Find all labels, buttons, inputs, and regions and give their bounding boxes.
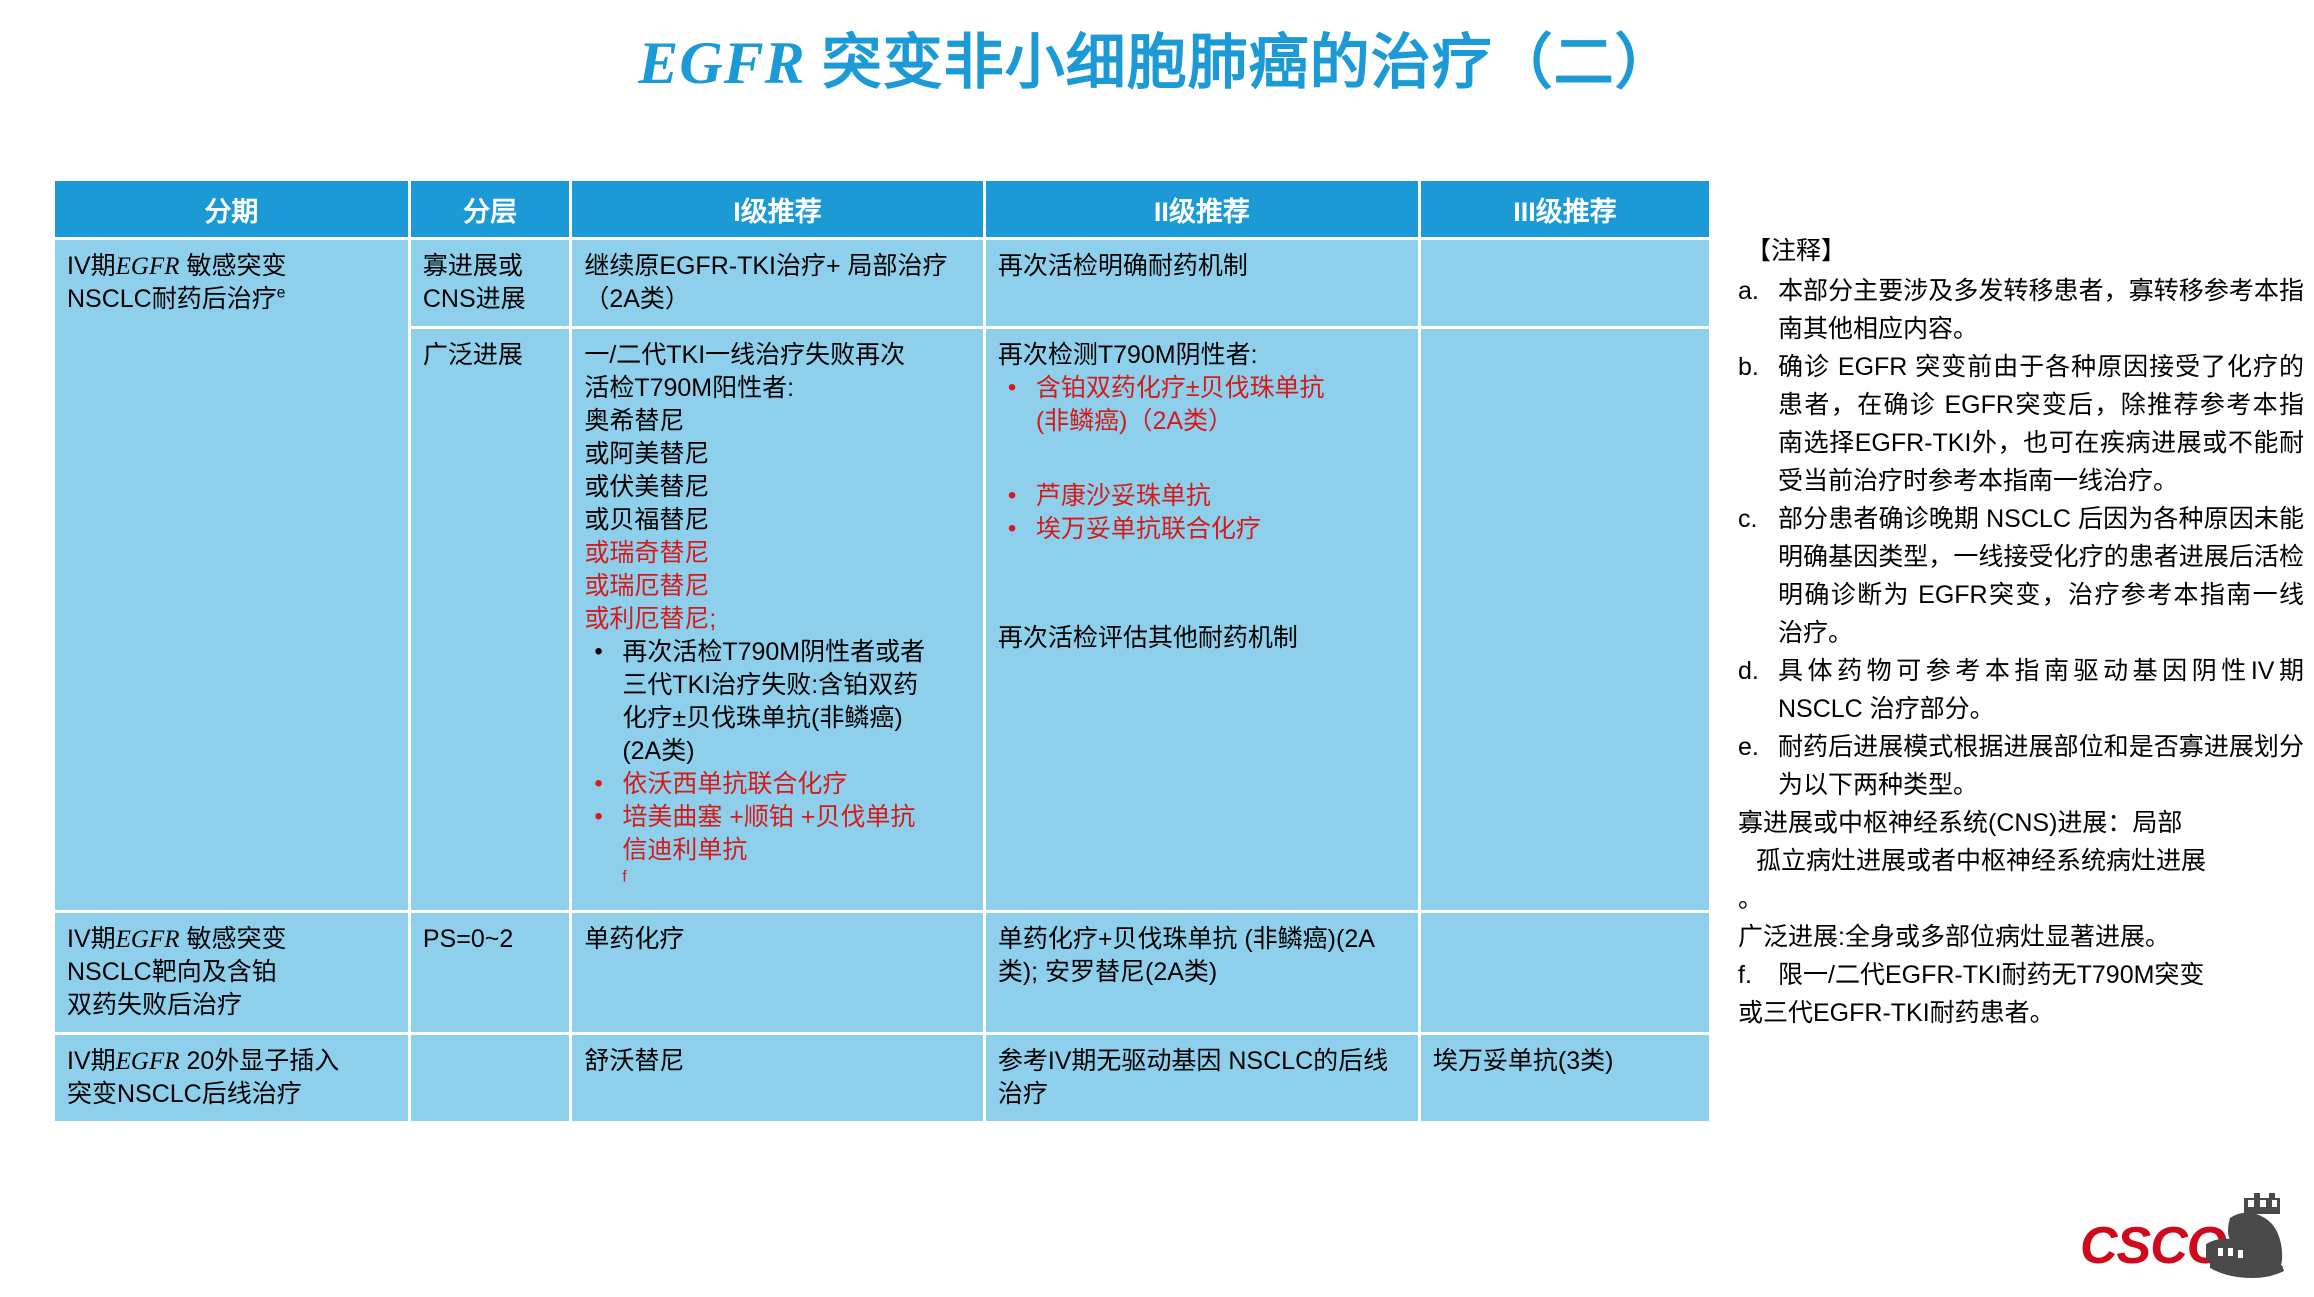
- level1-bullet-3: 培美曲塞 +顺铂 +贝伐单抗 信迪利单抗: [622, 801, 971, 867]
- stage1-gene: EGFR: [116, 253, 180, 280]
- cell-stage-4: IV期EGFR 20外显子插入 突变NSCLC后线治疗: [55, 1035, 408, 1121]
- stage4-gene: EGFR: [116, 1048, 180, 1075]
- note-text: 本部分主要涉及多发转移患者，寡转移参考本指南其他相应内容。: [1778, 272, 2304, 348]
- cell-level2-1: 再次活检明确耐药机制: [986, 240, 1418, 326]
- list-item: 依沃西单抗联合化疗: [618, 768, 971, 801]
- table-row: IV期EGFR 敏感突变 NSCLC耐药后治疗e 寡进展或 CNS进展 继续原E…: [55, 240, 1709, 326]
- note-plain-period: 。: [1738, 880, 2304, 918]
- level1-head-text: 一/二代TKI一线治疗失败再次 活检T790M阳性者: 奥希替尼 或阿美替尼 或…: [584, 339, 971, 537]
- note-marker: b.: [1738, 348, 1778, 386]
- note-item-c: c. 部分患者确诊晚期 NSCLC 后因为各种原因未能明确基因类型，一线接受化疗…: [1738, 500, 2304, 652]
- stage3-gene: EGFR: [116, 926, 180, 953]
- cell-level1-1: 继续原EGFR-TKI治疗+ 局部治疗（2A类）: [572, 240, 983, 326]
- cell-level2-4: 参考IV期无驱动基因 NSCLC的后线治疗: [986, 1035, 1418, 1121]
- level1-bullet-2: 依沃西单抗联合化疗: [622, 768, 971, 801]
- cell-strata-1: 寡进展或 CNS进展: [411, 240, 569, 326]
- note-text: 限一/二代EGFR-TKI耐药无T790M突变: [1778, 956, 2304, 994]
- level2-bullet-3: 埃万妥单抗联合化疗: [1036, 513, 1406, 546]
- level2-bullet-list-b: 芦康沙妥珠单抗 埃万妥单抗联合化疗: [998, 480, 1406, 546]
- note-item-d: d. 具体药物可参考本指南驱动基因阴性IV期 NSCLC 治疗部分。: [1738, 652, 2304, 728]
- list-item: 含铂双药化疗±贝伐珠单抗 (非鳞癌)（2A类）: [1032, 372, 1406, 438]
- stage4-suffix: 20外显子插入: [180, 1047, 340, 1075]
- table-row: IV期EGFR 20外显子插入 突变NSCLC后线治疗 舒沃替尼 参考IV期无驱…: [55, 1035, 1709, 1121]
- note-marker: a.: [1738, 272, 1778, 310]
- table-row: IV期EGFR 敏感突变 NSCLC靶向及含铂 双药失败后治疗 PS=0~2 单…: [55, 913, 1709, 1032]
- list-item: 再次活检T790M阴性者或者 三代TKI治疗失败:含铂双药 化疗±贝伐珠单抗(非…: [618, 636, 971, 768]
- column-header-stage: 分期: [55, 181, 408, 237]
- column-header-level1: I级推荐: [572, 181, 983, 237]
- cell-strata-3: PS=0~2: [411, 913, 569, 1032]
- title-rest: 突变非小细胞肺癌的治疗（二）: [806, 30, 1676, 96]
- stage3-suffix: 敏感突变: [180, 925, 287, 953]
- stage3-prefix: IV期: [67, 925, 116, 953]
- note-text: 耐药后进展模式根据进展部位和是否寡进展划分为以下两种类型。: [1778, 728, 2304, 804]
- level2-bullet-list-a: 含铂双药化疗±贝伐珠单抗 (非鳞癌)（2A类）: [998, 372, 1406, 438]
- recommendation-table-wrapper: 分期 分层 I级推荐 II级推荐 III级推荐 IV期EGFR 敏感突变 NSC…: [52, 178, 1712, 1124]
- cell-strata-4: [411, 1035, 569, 1121]
- list-item: 芦康沙妥珠单抗: [1032, 480, 1406, 513]
- note-item-e: e. 耐药后进展模式根据进展部位和是否寡进展划分为以下两种类型。: [1738, 728, 2304, 804]
- cell-level1-2: 一/二代TKI一线治疗失败再次 活检T790M阳性者: 奥希替尼 或阿美替尼 或…: [572, 329, 983, 910]
- level2-bullet-2: 芦康沙妥珠单抗: [1036, 480, 1406, 513]
- note-item-f-cont: 或三代EGFR-TKI耐药患者。: [1738, 994, 2304, 1032]
- notes-panel: 【注释】 a. 本部分主要涉及多发转移患者，寡转移参考本指南其他相应内容。 b.…: [1738, 232, 2304, 1032]
- note-plain-extensive: 广泛进展:全身或多部位病灶显著进展。: [1738, 918, 2304, 956]
- level1-bullet-3-footnote: f: [622, 869, 626, 886]
- column-header-level2: II级推荐: [986, 181, 1418, 237]
- cell-strata-2: 广泛进展: [411, 329, 569, 910]
- spacer: [998, 546, 1406, 622]
- page-title: EGFR 突变非小细胞肺癌的治疗（二）: [0, 14, 2314, 101]
- note-marker: d.: [1738, 652, 1778, 690]
- stage4-line2: 突变NSCLC后线治疗: [67, 1078, 396, 1111]
- note-marker: c.: [1738, 500, 1778, 538]
- stage3-line3: 双药失败后治疗: [67, 989, 396, 1022]
- note-text: 具体药物可参考本指南驱动基因阴性IV期 NSCLC 治疗部分。: [1778, 652, 2304, 728]
- cell-level3-1: [1421, 240, 1709, 326]
- column-header-strata: 分层: [411, 181, 569, 237]
- great-wall-icon: [2200, 1188, 2296, 1280]
- stage1-footnote-marker: e: [277, 285, 286, 302]
- cell-stage-1: IV期EGFR 敏感突变 NSCLC耐药后治疗e: [55, 240, 408, 910]
- cell-level3-3: [1421, 913, 1709, 1032]
- note-marker: f.: [1738, 956, 1778, 994]
- cell-stage-3: IV期EGFR 敏感突变 NSCLC靶向及含铂 双药失败后治疗: [55, 913, 408, 1032]
- cell-level3-4: 埃万妥单抗(3类): [1421, 1035, 1709, 1121]
- cell-level2-3: 单药化疗+贝伐珠单抗 (非鳞癌)(2A类); 安罗替尼(2A类): [986, 913, 1418, 1032]
- stage4-prefix: IV期: [67, 1047, 116, 1075]
- stage3-line2: NSCLC靶向及含铂: [67, 956, 396, 989]
- note-marker: e.: [1738, 728, 1778, 766]
- level1-bullet-list: 再次活检T790M阴性者或者 三代TKI治疗失败:含铂双药 化疗±贝伐珠单抗(非…: [584, 636, 971, 900]
- recommendation-table: 分期 分层 I级推荐 II级推荐 III级推荐 IV期EGFR 敏感突变 NSC…: [52, 178, 1712, 1124]
- title-egfr: EGFR: [638, 30, 805, 96]
- note-plain-oligo-cont: 孤立病灶进展或者中枢神经系统病灶进展: [1738, 842, 2304, 880]
- spacer: [998, 438, 1406, 480]
- slide-root: EGFR 突变非小细胞肺癌的治疗（二） 分期 分层 I级推荐 II级推荐 III…: [0, 0, 2314, 1297]
- notes-title: 【注释】: [1738, 232, 2304, 270]
- cell-level1-4: 舒沃替尼: [572, 1035, 983, 1121]
- note-text: 确诊 EGFR 突变前由于各种原因接受了化疗的患者，在确诊 EGFR突变后，除推…: [1778, 348, 2304, 500]
- level2-bullet-1: 含铂双药化疗±贝伐珠单抗 (非鳞癌)（2A类）: [1036, 372, 1406, 438]
- stage1-line2: NSCLC耐药后治疗: [67, 285, 277, 313]
- cell-level1-3: 单药化疗: [572, 913, 983, 1032]
- csco-logo: CSCO: [2080, 1188, 2296, 1284]
- level2-head-text: 再次检测T790M阴性者:: [998, 339, 1406, 372]
- note-item-a: a. 本部分主要涉及多发转移患者，寡转移参考本指南其他相应内容。: [1738, 272, 2304, 348]
- stage1-prefix: IV期: [67, 252, 116, 280]
- level2-tail-text: 再次活检评估其他耐药机制: [998, 622, 1406, 655]
- column-header-level3: III级推荐: [1421, 181, 1709, 237]
- level1-bullet-1: 再次活检T790M阴性者或者 三代TKI治疗失败:含铂双药 化疗±贝伐珠单抗(非…: [622, 636, 971, 768]
- level1-red-drugs: 或瑞奇替尼 或瑞厄替尼 或利厄替尼;: [584, 537, 971, 636]
- note-text: 部分患者确诊晚期 NSCLC 后因为各种原因未能明确基因类型，一线接受化疗的患者…: [1778, 500, 2304, 652]
- note-item-b: b. 确诊 EGFR 突变前由于各种原因接受了化疗的患者，在确诊 EGFR突变后…: [1738, 348, 2304, 500]
- stage1-suffix: 敏感突变: [180, 252, 287, 280]
- list-item: 埃万妥单抗联合化疗: [1032, 513, 1406, 546]
- table-header-row: 分期 分层 I级推荐 II级推荐 III级推荐: [55, 181, 1709, 237]
- note-plain-oligo: 寡进展或中枢神经系统(CNS)进展：局部: [1738, 804, 2304, 842]
- cell-level2-2: 再次检测T790M阴性者: 含铂双药化疗±贝伐珠单抗 (非鳞癌)（2A类） 芦康…: [986, 329, 1418, 910]
- cell-level3-2: [1421, 329, 1709, 910]
- list-item: 培美曲塞 +顺铂 +贝伐单抗 信迪利单抗f: [618, 801, 971, 900]
- note-item-f: f. 限一/二代EGFR-TKI耐药无T790M突变: [1738, 956, 2304, 994]
